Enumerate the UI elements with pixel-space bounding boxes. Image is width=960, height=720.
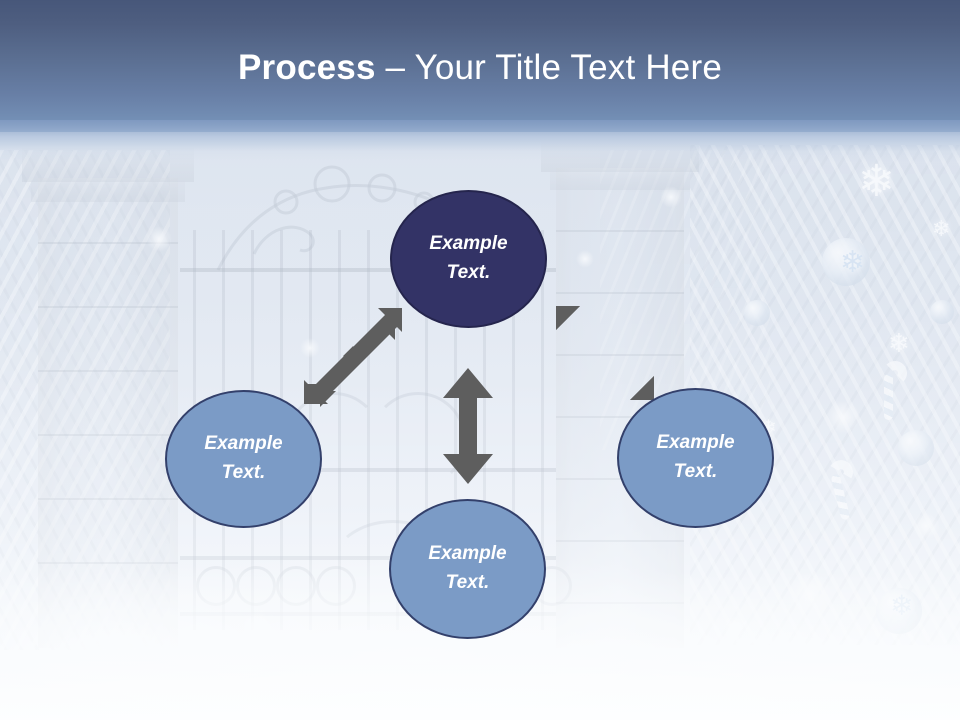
node-center-line1: Example (429, 230, 507, 259)
page-title-rest: – Your Title Text Here (386, 48, 722, 87)
process-node-center[interactable]: Example Text. (390, 190, 547, 328)
connector-arrow-center-left (302, 306, 406, 406)
node-left-line1: Example (204, 430, 282, 459)
node-bottom-line1: Example (428, 540, 506, 569)
node-right-line2: Text. (674, 458, 718, 487)
connector-arrow-center-bottom (441, 368, 495, 484)
process-node-left[interactable]: Example Text. (165, 390, 322, 528)
page-title: Process – Your Title Text Here (0, 48, 960, 88)
page-title-bold: Process (238, 48, 386, 87)
connector-arrow-center-right (552, 302, 658, 404)
node-center-line2: Text. (447, 259, 491, 288)
node-left-line2: Text. (222, 459, 266, 488)
title-bar-fade (0, 120, 960, 162)
node-bottom-line2: Text. (446, 569, 490, 598)
node-right-line1: Example (656, 429, 734, 458)
process-node-right[interactable]: Example Text. (617, 388, 774, 528)
slide-canvas: ❄ ❄ ❄ ❄ ❄ ❄ Process – Your Title Text He… (0, 0, 960, 720)
process-node-bottom[interactable]: Example Text. (389, 499, 546, 639)
